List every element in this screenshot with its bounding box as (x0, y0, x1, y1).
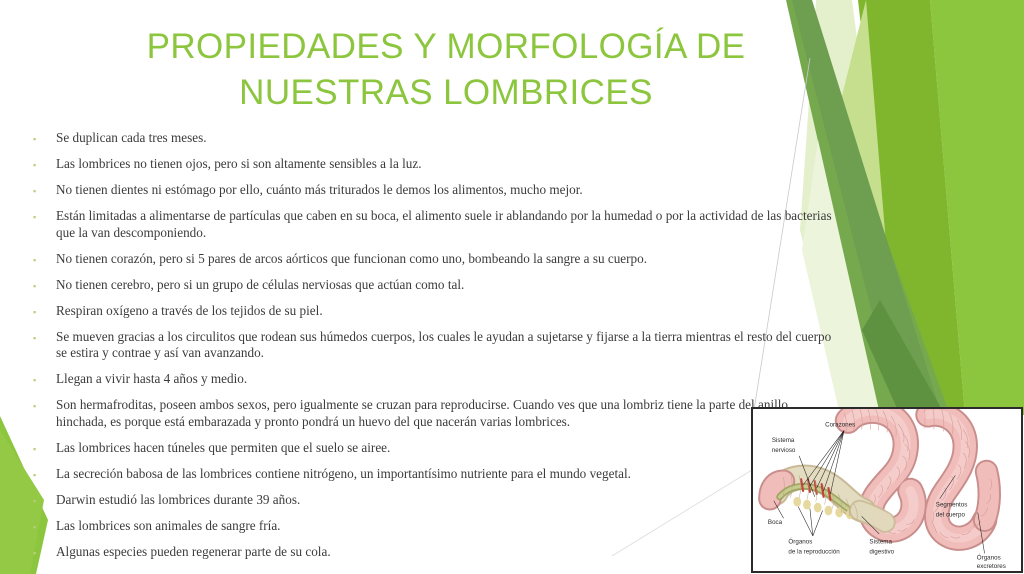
bullet-list: ▪ Se duplican cada tres meses. ▪ Las lom… (26, 130, 836, 570)
bullet-icon: ▪ (26, 544, 56, 558)
list-item-text: Respiran oxígeno a través de los tejidos… (56, 303, 836, 320)
title-line-1: PROPIEDADES Y MORFOLOGÍA DE (96, 24, 796, 70)
label-organos-excretores-2: excretores (977, 563, 1006, 570)
list-item: ▪ Algunas especies pueden regenerar part… (26, 544, 836, 561)
list-item-text: No tienen cerebro, pero si un grupo de c… (56, 277, 836, 294)
list-item-text: Se duplican cada tres meses. (56, 130, 836, 147)
list-item-text: Son hermafroditas, poseen ambos sexos, p… (56, 397, 836, 430)
bullet-icon: ▪ (26, 492, 56, 506)
list-item: ▪ No tienen dientes ni estómago por ello… (26, 182, 836, 199)
bullet-icon: ▪ (26, 156, 56, 170)
label-organos-excretores-1: Órganos (977, 554, 1001, 561)
list-item: ▪ Llegan a vivir hasta 4 años y medio. (26, 371, 836, 388)
list-item-text: Las lombrices no tienen ojos, pero si so… (56, 156, 836, 173)
label-segmentos-2: del cuerpo (936, 511, 966, 518)
bullet-icon: ▪ (26, 182, 56, 196)
bullet-icon: ▪ (26, 303, 56, 317)
presentation-slide: PROPIEDADES Y MORFOLOGÍA DE NUESTRAS LOM… (0, 0, 1024, 574)
bullet-icon: ▪ (26, 251, 56, 265)
bg-shape-bright-right (930, 0, 1024, 415)
list-item: ▪ Darwin estudió las lombrices durante 3… (26, 492, 836, 509)
list-item-text: Las lombrices hacen túneles que permiten… (56, 440, 836, 457)
bullet-icon: ▪ (26, 371, 56, 385)
bullet-icon: ▪ (26, 130, 56, 144)
list-item: ▪ Son hermafroditas, poseen ambos sexos,… (26, 397, 836, 430)
bullet-icon: ▪ (26, 466, 56, 480)
list-item-text: Están limitadas a alimentarse de partícu… (56, 208, 836, 241)
label-sistema-nervioso-1: Sistema (772, 437, 795, 444)
label-sistema-nervioso-2: nervioso (772, 447, 796, 454)
label-corazones: Corazones (825, 422, 855, 429)
label-segmentos-1: Segmentos (936, 502, 968, 509)
page-title: PROPIEDADES Y MORFOLOGÍA DE NUESTRAS LOM… (96, 24, 796, 116)
label-sistema-digestivo-1: Sistema (869, 539, 892, 546)
list-item: ▪ Las lombrices son animales de sangre f… (26, 518, 836, 535)
bg-shape-accent (862, 300, 945, 415)
bullet-icon: ▪ (26, 518, 56, 532)
bullet-icon: ▪ (26, 397, 56, 411)
list-item: ▪ Se mueven gracias a los circulitos que… (26, 329, 836, 362)
list-item: ▪ Respiran oxígeno a través de los tejid… (26, 303, 836, 320)
list-item-text: Las lombrices son animales de sangre frí… (56, 518, 836, 535)
bg-shape-bright-right-2 (858, 0, 965, 415)
earthworm-anatomy-image: Corazones Sistema nervioso Boca Órganos … (751, 407, 1023, 573)
list-item: ▪ Se duplican cada tres meses. (26, 130, 836, 147)
list-item-text: Se mueven gracias a los circulitos que r… (56, 329, 836, 362)
list-item: ▪ La secreción babosa de las lombrices c… (26, 466, 836, 483)
list-item-text: No tienen corazón, pero si 5 pares de ar… (56, 251, 836, 268)
label-boca: Boca (768, 519, 783, 526)
list-item: ▪ No tienen corazón, pero si 5 pares de … (26, 251, 836, 268)
bullet-icon: ▪ (26, 277, 56, 291)
list-item-text: Llegan a vivir hasta 4 años y medio. (56, 371, 836, 388)
label-organos-reproduccion-2: de la reproducción (788, 548, 840, 555)
bullet-icon: ▪ (26, 208, 56, 222)
label-organos-reproduccion-1: Órganos (788, 539, 812, 546)
list-item: ▪ Están limitadas a alimentarse de partí… (26, 208, 836, 241)
title-line-2: NUESTRAS LOMBRICES (96, 70, 796, 116)
list-item: ▪ Las lombrices no tienen ojos, pero si … (26, 156, 836, 173)
list-item: ▪ No tienen cerebro, pero si un grupo de… (26, 277, 836, 294)
list-item-text: No tienen dientes ni estómago por ello, … (56, 182, 836, 199)
bullet-icon: ▪ (26, 329, 56, 343)
list-item: ▪ Las lombrices hacen túneles que permit… (26, 440, 836, 457)
list-item-text: Algunas especies pueden regenerar parte … (56, 544, 836, 561)
label-sistema-digestivo-2: digestivo (869, 548, 894, 555)
earthworm-anatomy-diagram: Corazones Sistema nervioso Boca Órganos … (753, 409, 1021, 571)
list-item-text: La secreción babosa de las lombrices con… (56, 466, 836, 483)
list-item-text: Darwin estudió las lombrices durante 39 … (56, 492, 836, 509)
bullet-icon: ▪ (26, 440, 56, 454)
